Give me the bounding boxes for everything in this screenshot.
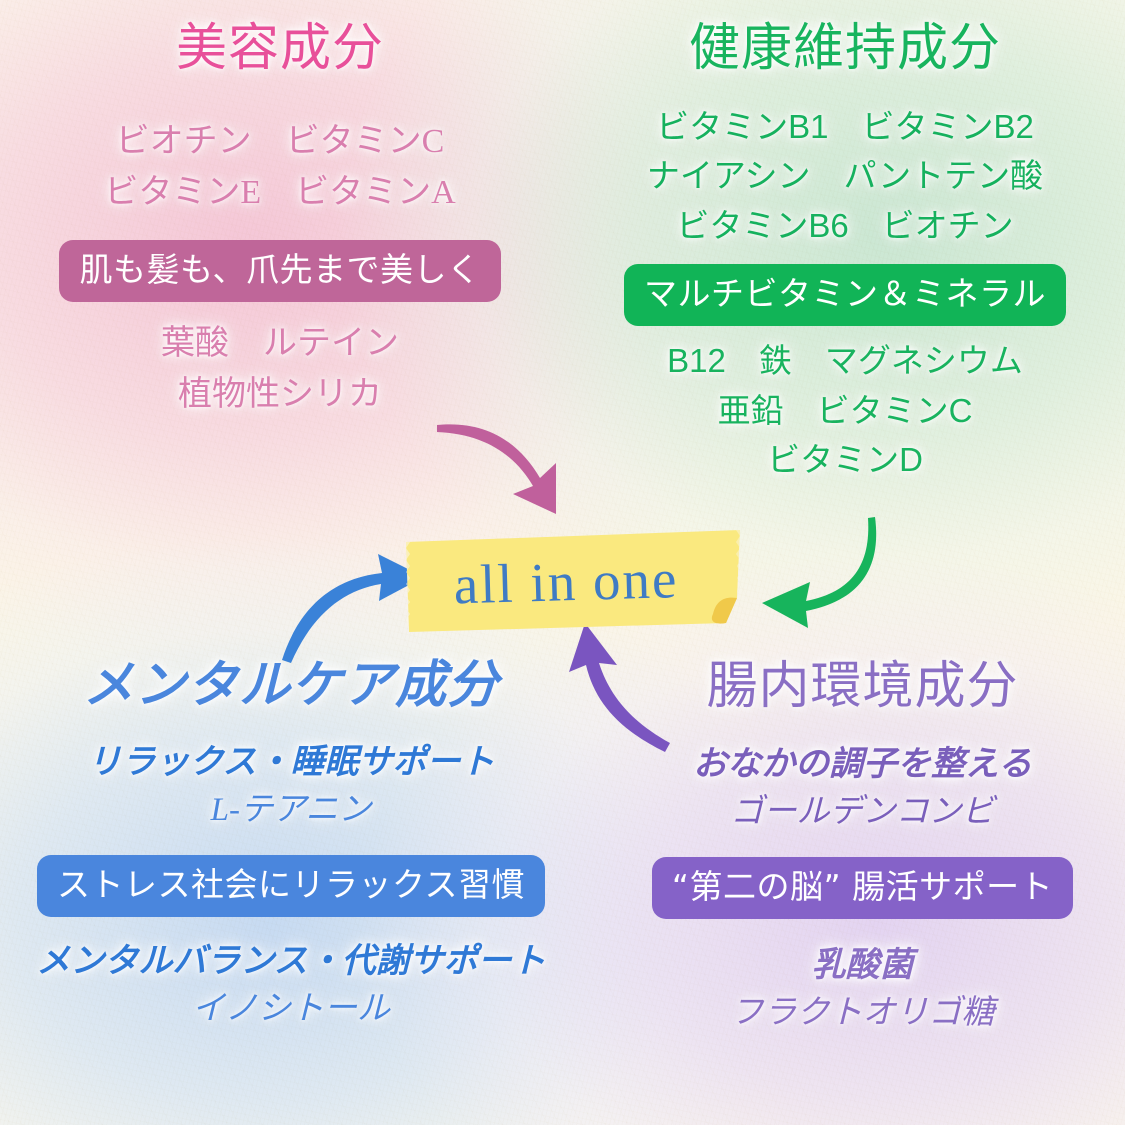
infographic-canvas: 美容成分 ビオチン ビタミンC ビタミンE ビタミンA 肌も髪も、爪先まで美しく… (0, 0, 1125, 1125)
center-label: all in one (403, 523, 746, 638)
arrow-beauty-to-center (437, 424, 556, 514)
center-badge-all-in-one[interactable]: all in one (404, 528, 744, 634)
arrow-health-to-center (762, 517, 876, 628)
arrow-gut-to-center (569, 623, 670, 752)
